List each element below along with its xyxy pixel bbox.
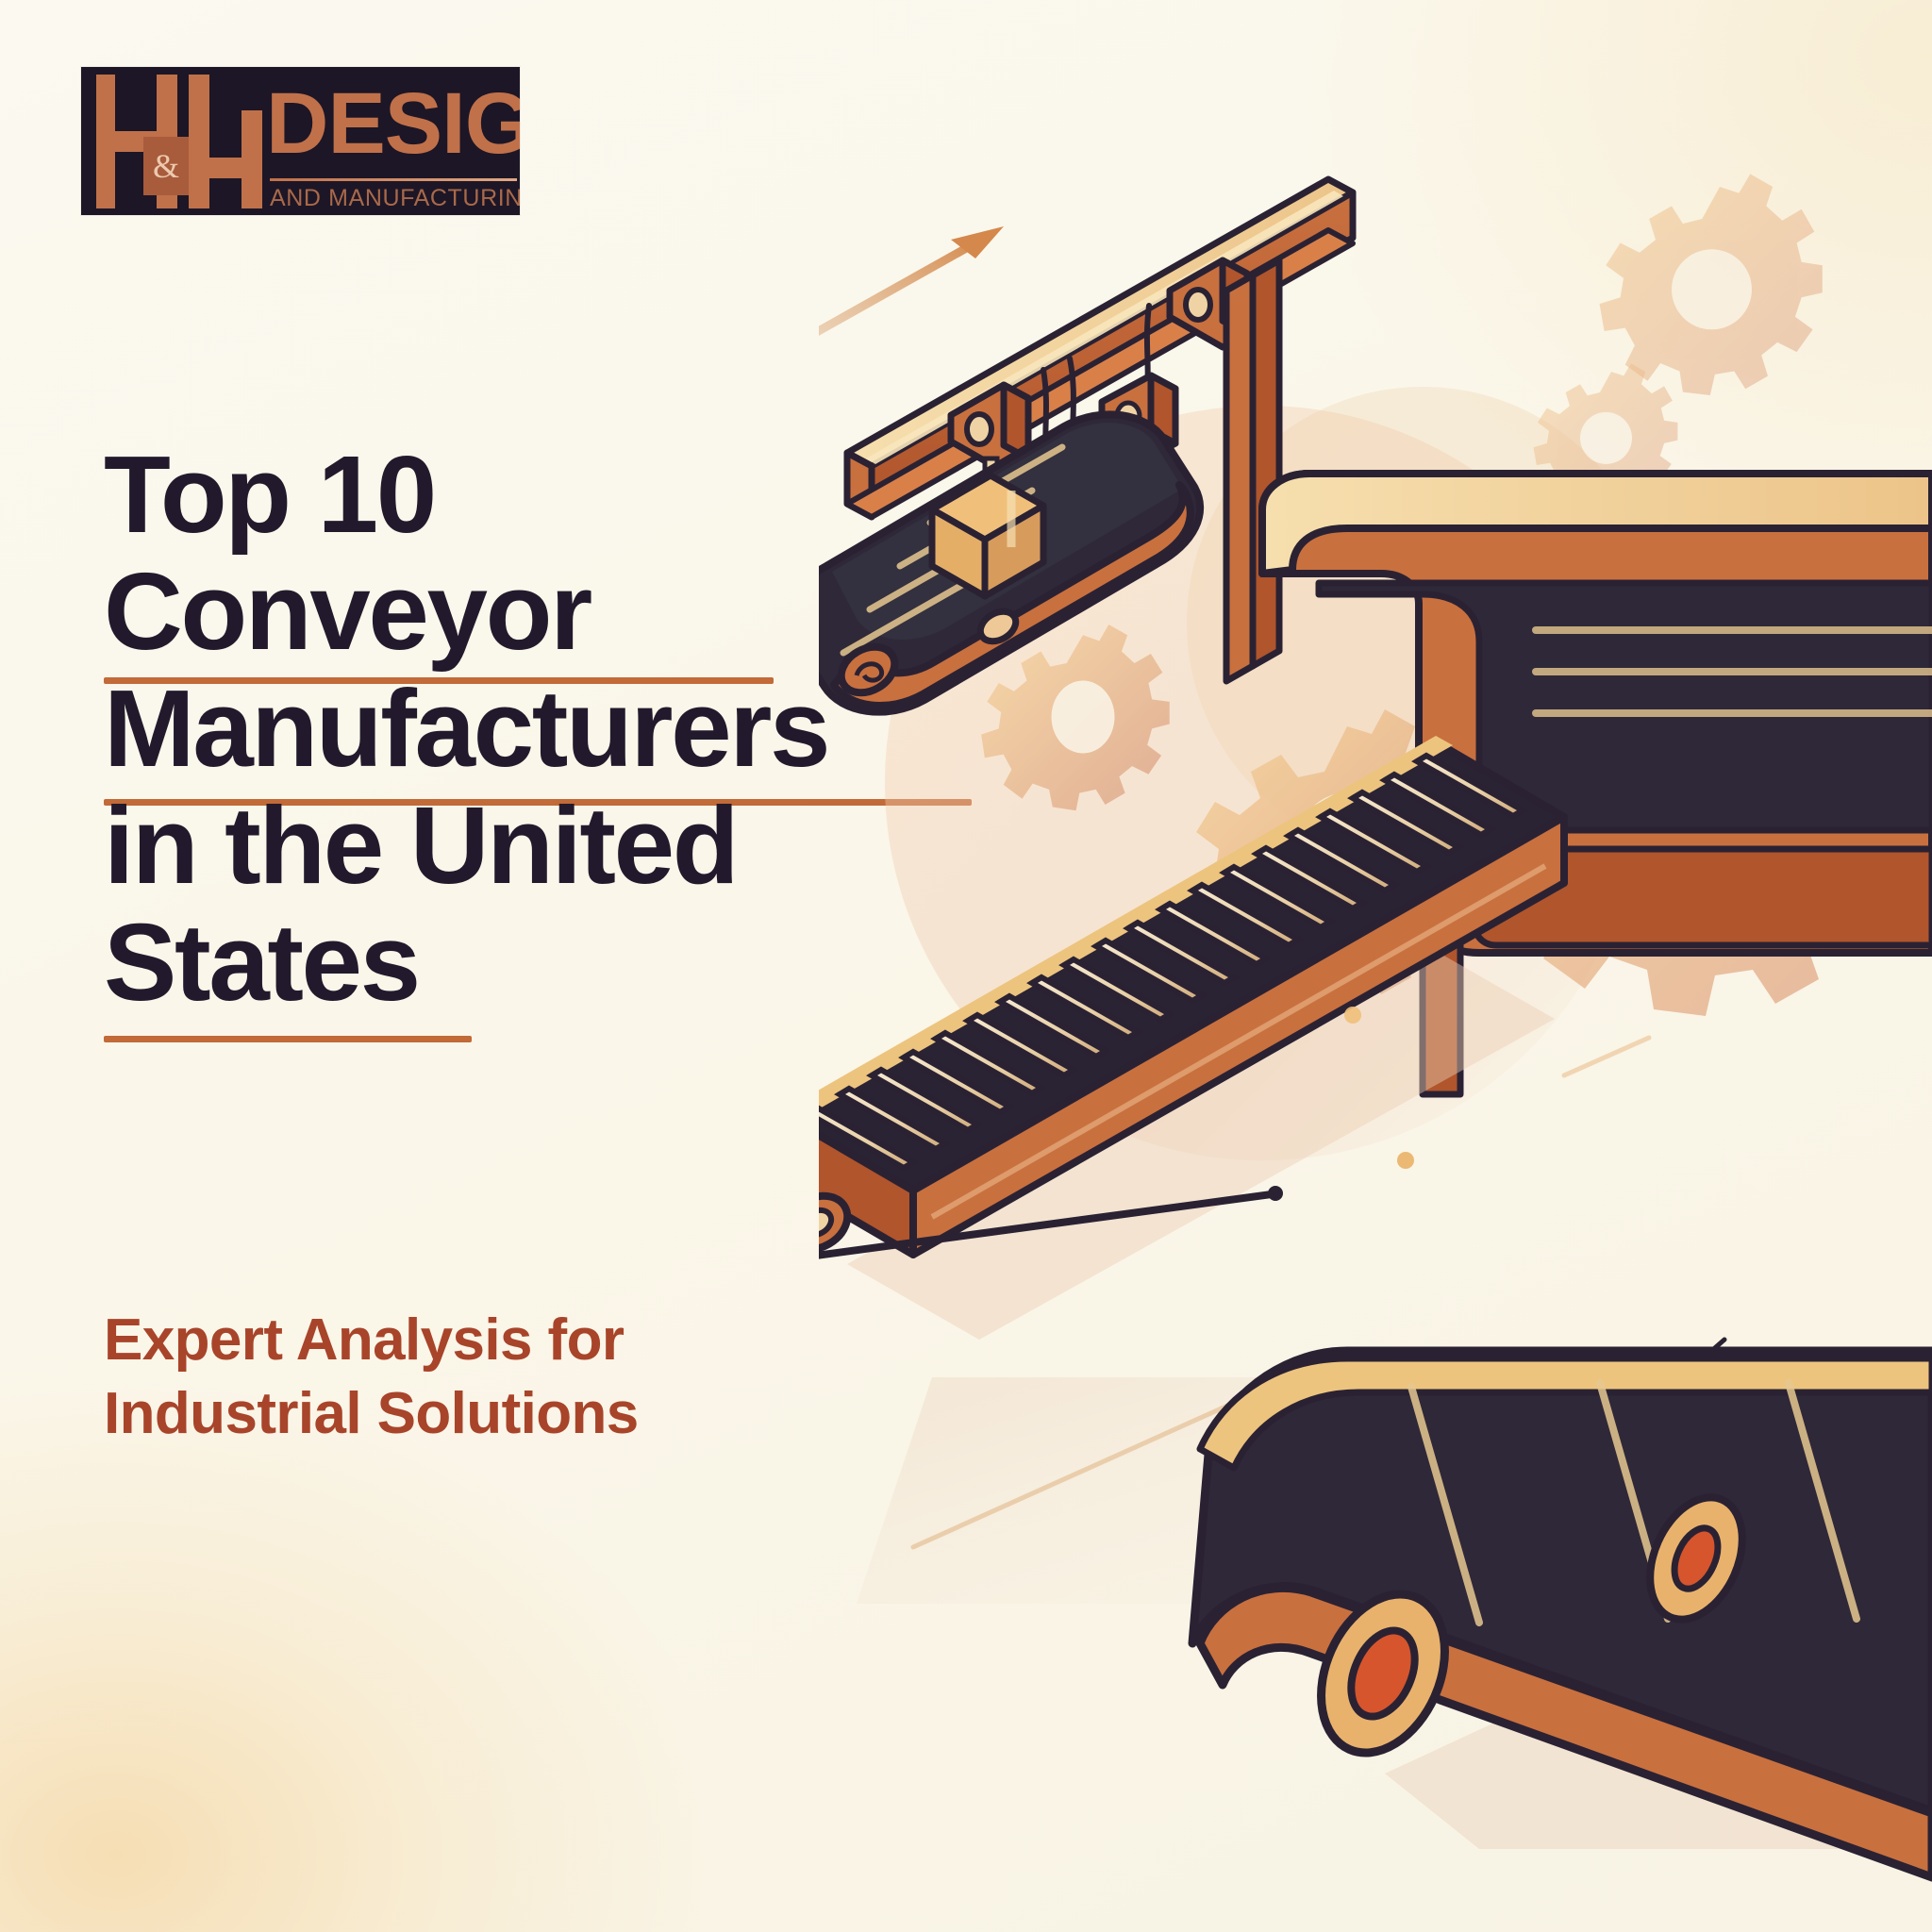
subtitle: Expert Analysis for Industrial Solutions (104, 1304, 639, 1451)
ampersand-glyph: & (143, 137, 189, 195)
logo-divider (270, 178, 517, 181)
subtitle-line-1: Expert Analysis for (104, 1304, 639, 1377)
poster-canvas: & DESIGN AND MANUFACTURING LLC Top 10 Co… (0, 0, 1932, 1932)
conveyor-illustration (819, 0, 1932, 1932)
logo-tagline: AND MANUFACTURING LLC (270, 185, 520, 211)
brand-logo[interactable]: & DESIGN AND MANUFACTURING LLC (81, 67, 520, 215)
direction-arrow-up (819, 226, 1004, 368)
headline-underline-3 (104, 1036, 472, 1042)
hh-monogram-icon: & (91, 67, 262, 215)
subtitle-line-2: Industrial Solutions (104, 1377, 639, 1451)
belt-conveyor-lower-right (1192, 1351, 1932, 1877)
logo-wordmark: DESIGN (266, 80, 520, 167)
